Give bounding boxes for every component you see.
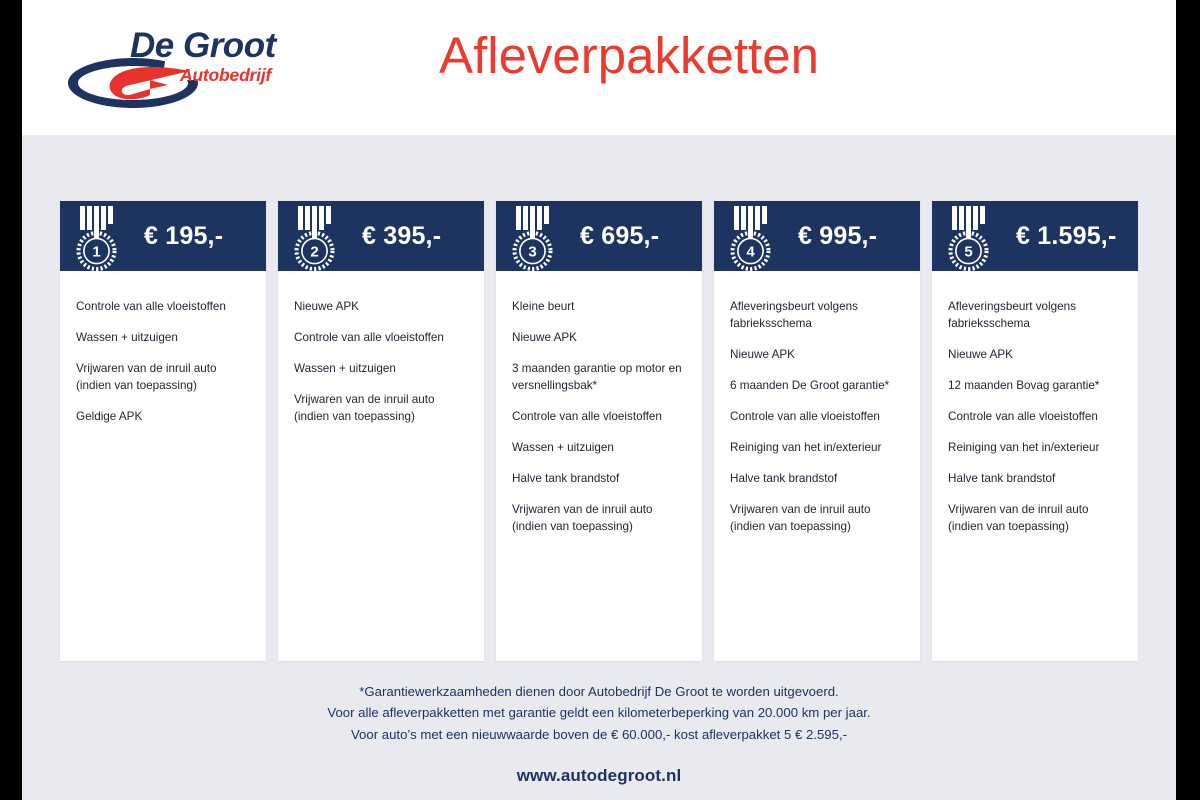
package-card[interactable]: 3 € 695,- Kleine beurt Nieuwe APK 3 maan… [496,201,702,661]
medal-icon: 4 [728,204,774,272]
package-card[interactable]: 1 € 195,- Controle van alle vloeistoffen… [60,201,266,661]
feature-item: Halve tank brandstof [512,471,686,488]
package-price: € 995,- [798,222,877,251]
medal-icon: 2 [292,204,338,272]
feature-item: Kleine beurt [512,299,686,316]
poster-page: De Groot Autobedrijf Afleverpakketten [22,0,1176,800]
feature-item: Vrijwaren van de inruil auto (indien van… [948,502,1122,535]
feature-item: 3 maanden garantie op motor en versnelli… [512,361,686,394]
feature-item: Halve tank brandstof [948,471,1122,488]
feature-item: Nieuwe APK [294,299,468,316]
medal-icon: 3 [510,204,556,272]
page-title: Afleverpakketten [22,26,1176,85]
medal-number: 2 [310,244,318,261]
feature-item: 6 maanden De Groot garantie* [730,378,904,395]
feature-item: Controle van alle vloeistoffen [948,409,1122,426]
medal-number: 4 [746,244,755,261]
feature-item: Vrijwaren van de inruil auto (indien van… [730,502,904,535]
package-card-header: 4 € 995,- [714,201,920,271]
disclaimer-line: *Garantiewerkzaamheden dienen door Autob… [22,681,1176,702]
feature-item: Controle van alle vloeistoffen [730,409,904,426]
disclaimer-line: Voor auto’s met een nieuwwaarde boven de… [22,724,1176,745]
package-cards: 1 € 195,- Controle van alle vloeistoffen… [60,201,1165,661]
package-card-header: 3 € 695,- [496,201,702,271]
feature-item: Controle van alle vloeistoffen [294,330,468,347]
feature-item: Controle van alle vloeistoffen [76,299,250,316]
footer-disclaimer: *Garantiewerkzaamheden dienen door Autob… [22,681,1176,745]
feature-item: 12 maanden Bovag garantie* [948,378,1122,395]
feature-item: Afleveringsbeurt volgens fabrieksschema [730,299,904,332]
feature-item: Wassen + uitzuigen [294,361,468,378]
feature-item: Vrijwaren van de inruil auto (indien van… [512,502,686,535]
medal-number: 5 [964,244,972,261]
package-price: € 695,- [580,222,659,251]
package-feature-list: Nieuwe APK Controle van alle vloeistoffe… [278,271,484,661]
package-card[interactable]: 2 € 395,- Nieuwe APK Controle van alle v… [278,201,484,661]
package-card-header: 1 € 195,- [60,201,266,271]
website-url[interactable]: www.autodegroot.nl [22,766,1176,786]
feature-item: Afleveringsbeurt volgens fabrieksschema [948,299,1122,332]
package-card[interactable]: 5 € 1.595,- Afleveringsbeurt volgens fab… [932,201,1138,661]
package-feature-list: Controle van alle vloeistoffen Wassen + … [60,271,266,661]
package-feature-list: Kleine beurt Nieuwe APK 3 maanden garant… [496,271,702,661]
feature-item: Reiniging van het in/exterieur [730,440,904,457]
feature-item: Halve tank brandstof [730,471,904,488]
feature-item: Vrijwaren van de inruil auto (indien van… [294,392,468,425]
disclaimer-line: Voor alle afleverpakketten met garantie … [22,702,1176,723]
medal-number: 3 [528,244,536,261]
package-price: € 195,- [144,222,223,251]
medal-number: 1 [92,244,100,261]
package-feature-list: Afleveringsbeurt volgens fabrieksschema … [932,271,1138,661]
feature-item: Controle van alle vloeistoffen [512,409,686,426]
medal-icon: 1 [74,204,120,272]
feature-item: Reiniging van het in/exterieur [948,440,1122,457]
feature-item: Wassen + uitzuigen [76,330,250,347]
feature-item: Nieuwe APK [730,347,904,364]
package-card-header: 2 € 395,- [278,201,484,271]
feature-item: Nieuwe APK [512,330,686,347]
package-card-header: 5 € 1.595,- [932,201,1138,271]
feature-item: Geldige APK [76,409,250,426]
feature-item: Wassen + uitzuigen [512,440,686,457]
header-band: De Groot Autobedrijf Afleverpakketten [22,0,1176,135]
package-card[interactable]: 4 € 995,- Afleveringsbeurt volgens fabri… [714,201,920,661]
package-price: € 395,- [362,222,441,251]
medal-icon: 5 [946,204,992,272]
feature-item: Vrijwaren van de inruil auto (indien van… [76,361,250,394]
package-price: € 1.595,- [1016,222,1116,251]
feature-item: Nieuwe APK [948,347,1122,364]
package-feature-list: Afleveringsbeurt volgens fabrieksschema … [714,271,920,661]
